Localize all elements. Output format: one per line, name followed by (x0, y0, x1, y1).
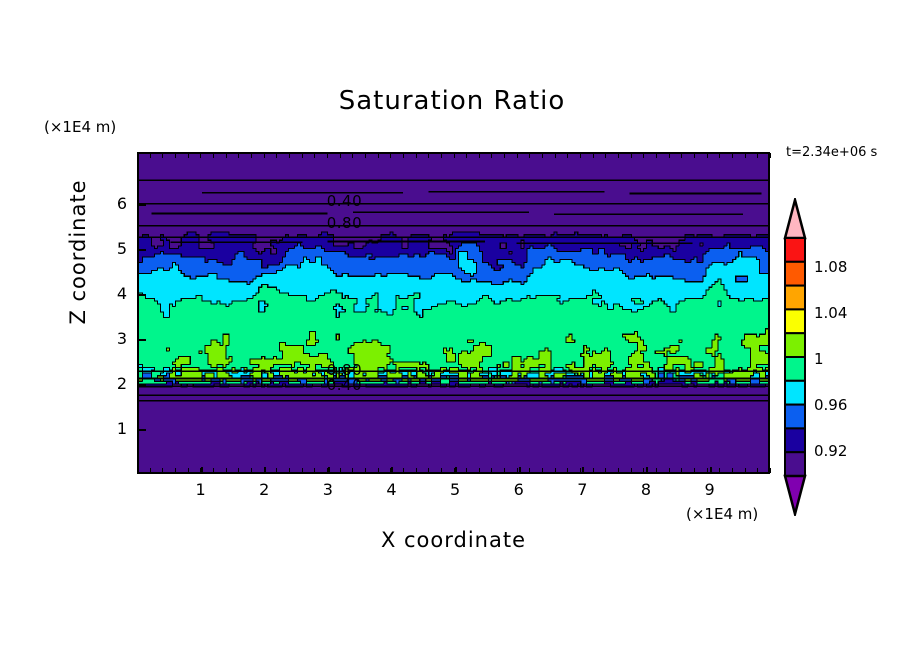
colorbar-swatch (785, 309, 805, 333)
minor-tick-mark (416, 468, 417, 473)
x-tick-mark (582, 467, 584, 474)
minor-tick-mark (593, 153, 594, 158)
minor-tick-mark (213, 468, 214, 473)
minor-tick-mark (694, 468, 695, 473)
minor-tick-mark (707, 153, 708, 158)
x-tick-label: 6 (507, 480, 531, 499)
minor-tick-mark (200, 153, 201, 158)
minor-tick-mark (428, 468, 429, 473)
y-tick-mark (138, 339, 146, 341)
minor-tick-mark (643, 153, 644, 158)
x-tick-mark (391, 467, 393, 474)
z-axis-unit-label: (×1E4 m) (44, 118, 116, 136)
minor-tick-mark (188, 468, 189, 473)
minor-tick-mark (238, 153, 239, 158)
minor-tick-mark (770, 468, 771, 473)
minor-tick-mark (175, 153, 176, 158)
colorbar-tick-label: 1 (814, 350, 824, 368)
minor-tick-mark (631, 468, 632, 473)
minor-tick-mark (264, 153, 265, 158)
minor-tick-mark (593, 468, 594, 473)
minor-tick-mark (276, 468, 277, 473)
minor-tick-mark (719, 468, 720, 473)
colorbar-swatch (785, 262, 805, 286)
minor-tick-mark (466, 468, 467, 473)
minor-tick-mark (770, 153, 771, 158)
minor-tick-mark (732, 468, 733, 473)
minor-tick-mark (504, 153, 505, 158)
minor-tick-mark (643, 468, 644, 473)
page-title: Saturation Ratio (0, 86, 904, 116)
minor-tick-mark (694, 153, 695, 158)
minor-tick-mark (226, 468, 227, 473)
minor-tick-mark (251, 468, 252, 473)
x-tick-label: 1 (189, 480, 213, 499)
minor-tick-mark (340, 153, 341, 158)
contour-plot-panel (137, 152, 770, 474)
colorbar-swatch (785, 357, 805, 381)
minor-tick-mark (669, 468, 670, 473)
minor-tick-mark (175, 468, 176, 473)
colorbar-swatch (785, 238, 805, 262)
minor-tick-mark (504, 468, 505, 473)
minor-tick-mark (150, 153, 151, 158)
minor-tick-mark (745, 468, 746, 473)
minor-tick-mark (378, 468, 379, 473)
y-tick-label: 4 (103, 284, 127, 303)
colorbar-swatch (785, 428, 805, 452)
minor-tick-mark (529, 468, 530, 473)
figure-canvas: Saturation Ratio (×1E4 m) (×1E4 m) t=2.3… (0, 0, 904, 654)
minor-tick-mark (681, 153, 682, 158)
minor-tick-mark (580, 468, 581, 473)
x-tick-label: 4 (379, 480, 403, 499)
minor-tick-mark (745, 153, 746, 158)
y-tick-mark (138, 204, 146, 206)
minor-tick-mark (517, 468, 518, 473)
minor-tick-mark (479, 468, 480, 473)
minor-tick-mark (251, 153, 252, 158)
minor-tick-mark (264, 468, 265, 473)
minor-tick-mark (352, 153, 353, 158)
minor-tick-mark (454, 153, 455, 158)
y-tick-mark (138, 249, 146, 251)
minor-tick-mark (200, 468, 201, 473)
minor-tick-mark (454, 468, 455, 473)
minor-tick-mark (466, 153, 467, 158)
y-tick-label: 1 (103, 419, 127, 438)
minor-tick-mark (719, 153, 720, 158)
x-tick-mark (455, 467, 457, 474)
x-tick-mark (519, 467, 521, 474)
minor-tick-mark (238, 468, 239, 473)
minor-tick-mark (618, 468, 619, 473)
minor-tick-mark (491, 468, 492, 473)
minor-tick-mark (567, 153, 568, 158)
minor-tick-mark (137, 468, 138, 473)
minor-tick-mark (618, 153, 619, 158)
minor-tick-mark (162, 153, 163, 158)
minor-tick-mark (656, 468, 657, 473)
minor-tick-mark (542, 153, 543, 158)
minor-tick-mark (580, 153, 581, 158)
minor-tick-mark (340, 468, 341, 473)
x-tick-label: 3 (316, 480, 340, 499)
minor-tick-mark (681, 468, 682, 473)
minor-tick-mark (441, 468, 442, 473)
minor-tick-mark (289, 468, 290, 473)
minor-tick-mark (150, 468, 151, 473)
minor-tick-mark (529, 153, 530, 158)
minor-tick-mark (517, 153, 518, 158)
minor-tick-mark (757, 468, 758, 473)
time-annotation: t=2.34e+06 s (786, 145, 877, 160)
colorbar-swatch (785, 452, 805, 476)
contour-field (139, 154, 768, 472)
y-axis-title: Z coordinate (66, 152, 90, 352)
minor-tick-mark (605, 153, 606, 158)
colorbar (782, 198, 808, 516)
minor-tick-mark (327, 153, 328, 158)
colorbar-tick-label: 1.04 (814, 304, 847, 322)
x-tick-mark (328, 467, 330, 474)
x-tick-label: 2 (252, 480, 276, 499)
minor-tick-mark (669, 153, 670, 158)
y-tick-label: 2 (103, 374, 127, 393)
contour-value-label: 0.80 (327, 214, 362, 232)
minor-tick-mark (542, 468, 543, 473)
colorbar-swatch (785, 333, 805, 357)
x-axis-title: X coordinate (137, 528, 770, 552)
colorbar-swatch (785, 405, 805, 429)
minor-tick-mark (352, 468, 353, 473)
x-tick-label: 9 (698, 480, 722, 499)
colorbar-under-arrow (785, 476, 805, 514)
x-tick-label: 7 (570, 480, 594, 499)
minor-tick-mark (213, 153, 214, 158)
minor-tick-mark (416, 153, 417, 158)
minor-tick-mark (365, 468, 366, 473)
minor-tick-mark (605, 468, 606, 473)
minor-tick-mark (631, 153, 632, 158)
x-tick-label: 8 (634, 480, 658, 499)
colorbar-tick-label: 0.96 (814, 396, 847, 414)
x-axis-unit-label: (×1E4 m) (686, 505, 758, 523)
minor-tick-mark (479, 153, 480, 158)
minor-tick-mark (289, 153, 290, 158)
minor-tick-mark (302, 153, 303, 158)
colorbar-swatches (782, 198, 808, 516)
minor-tick-mark (656, 153, 657, 158)
colorbar-swatch (785, 381, 805, 405)
y-tick-label: 6 (103, 194, 127, 213)
minor-tick-mark (226, 153, 227, 158)
colorbar-swatch (785, 286, 805, 310)
minor-tick-mark (162, 468, 163, 473)
contour-value-label: 0.40 (327, 192, 362, 210)
minor-tick-mark (555, 468, 556, 473)
minor-tick-mark (441, 153, 442, 158)
colorbar-over-arrow (785, 200, 805, 238)
minor-tick-mark (555, 153, 556, 158)
minor-tick-mark (390, 468, 391, 473)
minor-tick-mark (188, 153, 189, 158)
minor-tick-mark (365, 153, 366, 158)
y-tick-mark (138, 429, 146, 431)
minor-tick-mark (403, 153, 404, 158)
minor-tick-mark (403, 468, 404, 473)
minor-tick-mark (491, 153, 492, 158)
y-tick-label: 3 (103, 329, 127, 348)
minor-tick-mark (707, 468, 708, 473)
y-tick-mark (138, 384, 146, 386)
x-tick-label: 5 (443, 480, 467, 499)
y-tick-label: 5 (103, 239, 127, 258)
y-tick-mark (138, 294, 146, 296)
minor-tick-mark (276, 153, 277, 158)
minor-tick-mark (732, 153, 733, 158)
minor-tick-mark (378, 153, 379, 158)
minor-tick-mark (137, 153, 138, 158)
minor-tick-mark (757, 153, 758, 158)
minor-tick-mark (390, 153, 391, 158)
x-tick-mark (710, 467, 712, 474)
minor-tick-mark (428, 153, 429, 158)
minor-tick-mark (314, 153, 315, 158)
minor-tick-mark (302, 468, 303, 473)
colorbar-tick-label: 0.92 (814, 442, 847, 460)
minor-tick-mark (327, 468, 328, 473)
minor-tick-mark (314, 468, 315, 473)
minor-tick-mark (567, 468, 568, 473)
contour-value-label: 0.40 (327, 376, 362, 394)
colorbar-tick-label: 1.08 (814, 258, 847, 276)
x-tick-mark (646, 467, 648, 474)
